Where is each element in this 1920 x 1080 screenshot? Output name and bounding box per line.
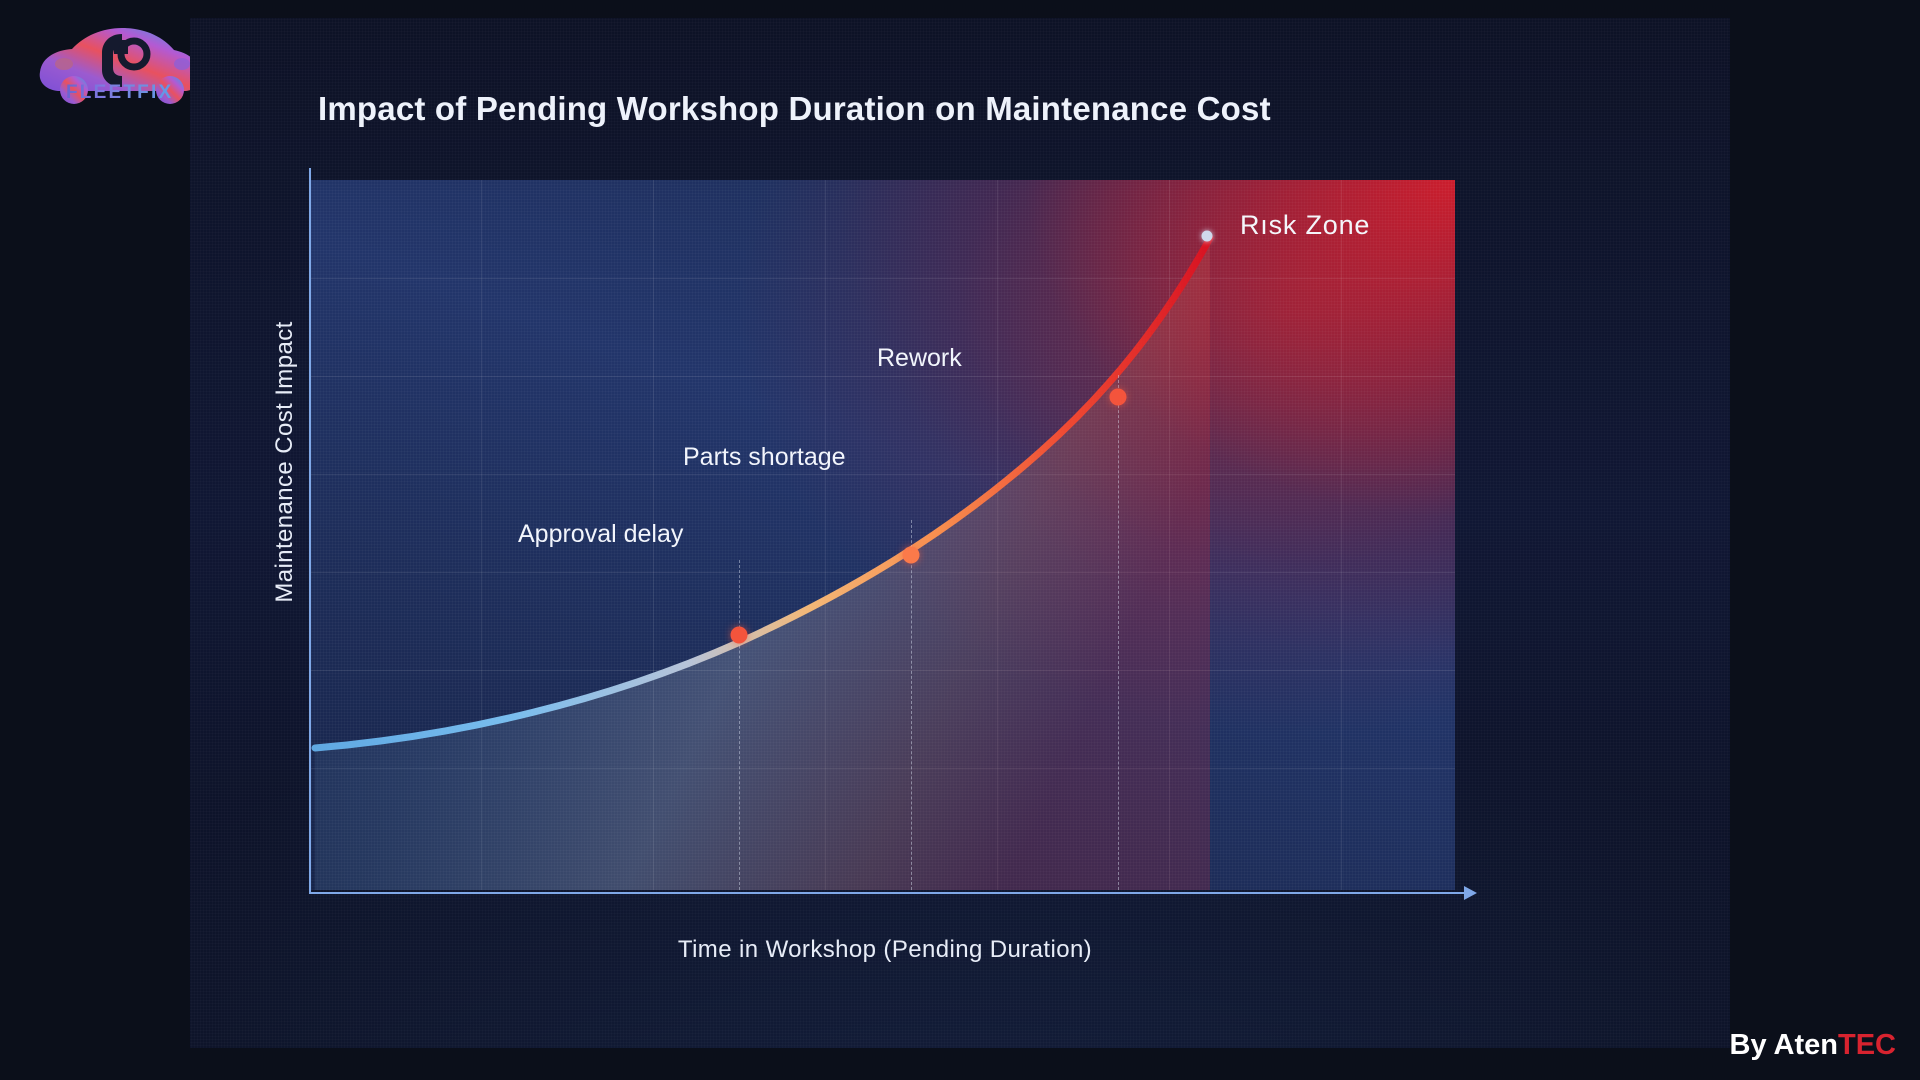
marker-risk-zone[interactable] [1202, 231, 1213, 242]
x-axis-title: Time in Workshop (Pending Duration) [310, 936, 1460, 964]
annotation-label-approval-delay: Approval delay [518, 520, 683, 549]
marker-rework[interactable] [1110, 389, 1127, 406]
y-axis-line [309, 168, 311, 894]
chart-slide: Impact of Pending Workshop Duration on M… [190, 18, 1730, 1048]
plot-area: Approval delay Parts shortage Rework Rıs… [310, 180, 1455, 890]
brand-logo-text: FLEETFIX [66, 82, 173, 104]
marker-approval-delay[interactable] [731, 627, 748, 644]
annotation-dropline-parts-shortage [911, 520, 912, 890]
annotation-dropline-approval-delay [739, 560, 740, 890]
x-axis-line [309, 892, 1467, 894]
cost-curve [310, 180, 1455, 890]
footer-credit-prefix: By Aten [1730, 1029, 1839, 1061]
footer-credit-suffix: TEC [1838, 1029, 1896, 1061]
annotation-label-parts-shortage: Parts shortage [683, 443, 846, 472]
footer-credit: By AtenTEC [1730, 1029, 1897, 1062]
marker-parts-shortage[interactable] [903, 547, 920, 564]
curve-area-fill [315, 238, 1210, 890]
annotation-label-risk-zone: Rısk Zone [1240, 210, 1370, 241]
annotation-label-rework: Rework [877, 344, 962, 373]
page-title: Impact of Pending Workshop Duration on M… [318, 90, 1271, 128]
y-axis-title: Maintenance Cost Impact [271, 297, 299, 627]
annotation-dropline-rework [1118, 375, 1119, 890]
x-axis-arrow-icon [1464, 886, 1477, 900]
slide-canvas: FLEETFIX Impact of Pending Workshop Dura… [0, 0, 1920, 1080]
